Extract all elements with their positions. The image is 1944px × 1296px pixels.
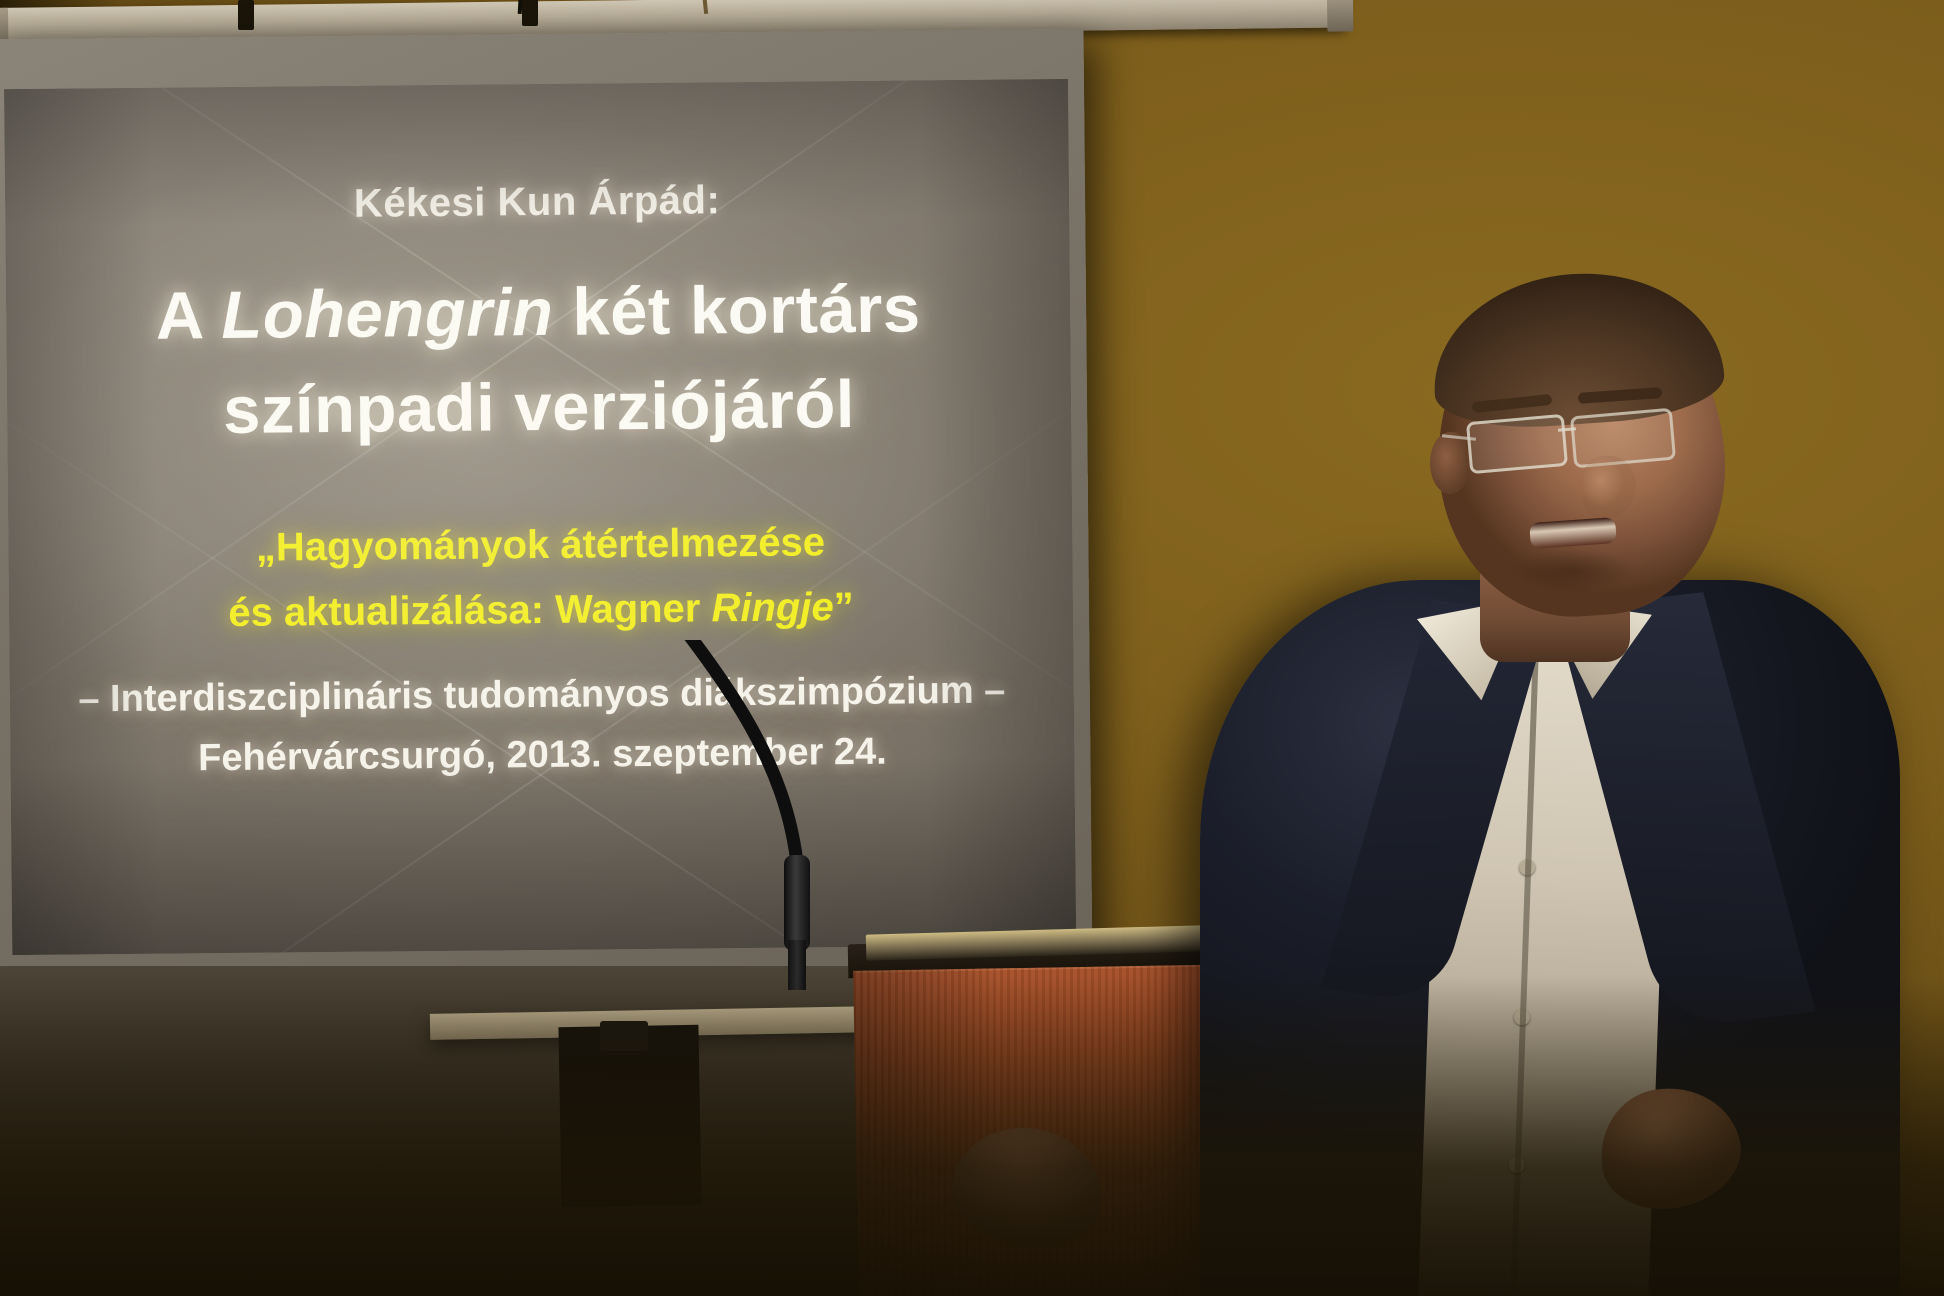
title-prefix: A [155, 278, 221, 354]
subtitle-closing-quote: ” [834, 585, 854, 629]
screen-bracket-right [522, 0, 538, 26]
roller-cap-right [1327, 0, 1353, 32]
eyeglasses-lens-left [1466, 414, 1568, 474]
shirt-button [1519, 859, 1536, 876]
slide-title-line-2: színpadi verziójáról [7, 355, 1072, 460]
microphone-capsule [784, 855, 810, 951]
ear [1430, 432, 1470, 494]
title-suffix: két kortárs [553, 271, 921, 350]
subtitle-work-name: Ringje [711, 585, 834, 630]
chin-shadow [1498, 550, 1648, 602]
slide-presenter-name: Kékesi Kun Árpád: [5, 175, 1069, 230]
lower-room-shadow [0, 976, 1944, 1296]
slide-subtitle: „Hagyományok átértelmezése és aktualizál… [8, 508, 1073, 648]
slide-title-line-1: A Lohengrin két kortárs [6, 260, 1071, 365]
screen-bracket-left [238, 0, 254, 30]
photograph-scene: Kékesi Kun Árpád: A Lohengrin két kortár… [0, 0, 1944, 1296]
subtitle-line-2: és aktualizálása: Wagner Ringje” [9, 573, 1074, 648]
subtitle-prefix: és aktualizálása: Wagner [228, 586, 712, 635]
title-work-name: Lohengrin [221, 275, 554, 353]
subtitle-line-1: „Hagyományok átértelmezése [8, 508, 1073, 583]
